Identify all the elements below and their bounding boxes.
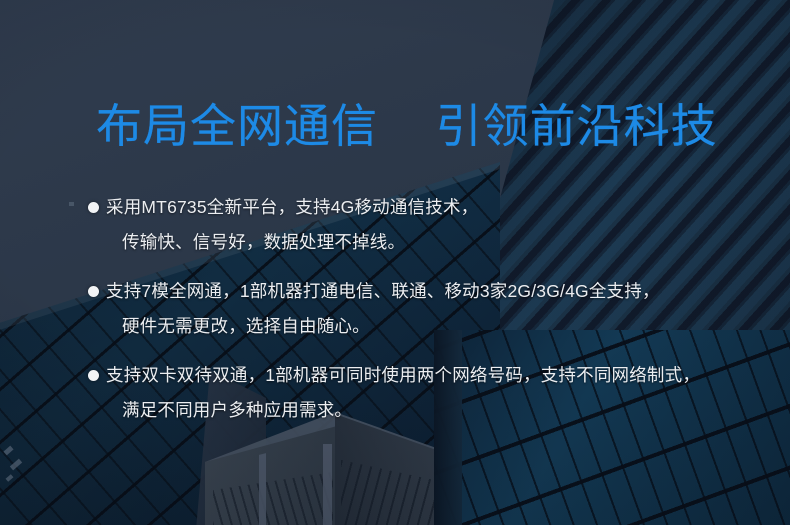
- bottom-white-strip: [0, 525, 790, 529]
- feature-1-line-2: 传输快、信号好，数据处理不掉线。: [88, 225, 748, 260]
- feature-item-2: 支持7模全网通，1部机器打通电信、联通、移动3家2G/3G/4G全支持， 硬件无…: [88, 274, 748, 344]
- feature-list: 采用MT6735全新平台，支持4G移动通信技术， 传输快、信号好，数据处理不掉线…: [88, 190, 748, 442]
- feature-3-line-1: 支持双卡双待双通，1部机器可同时使用两个网络号码，支持不同网络制式，: [88, 358, 748, 393]
- bullet-dot-icon: [88, 202, 99, 213]
- feature-item-3: 支持双卡双待双通，1部机器可同时使用两个网络号码，支持不同网络制式， 满足不同用…: [88, 358, 748, 428]
- headline-part-1: 布局全网通信: [96, 100, 378, 152]
- banner-headline: 布局全网通信 引领前沿科技: [96, 103, 718, 149]
- feature-1-line-1: 采用MT6735全新平台，支持4G移动通信技术，: [88, 190, 748, 225]
- promo-banner: 布局全网通信 引领前沿科技 采用MT6735全新平台，支持4G移动通信技术， 传…: [0, 0, 790, 529]
- feature-2-line-1: 支持7模全网通，1部机器打通电信、联通、移动3家2G/3G/4G全支持，: [88, 274, 748, 309]
- banner-content: 布局全网通信 引领前沿科技 采用MT6735全新平台，支持4G移动通信技术， 传…: [0, 0, 790, 529]
- bullet-dot-icon: [88, 370, 99, 381]
- feature-3-line-2: 满足不同用户多种应用需求。: [88, 393, 748, 428]
- feature-2-line-2: 硬件无需更改，选择自由随心。: [88, 309, 748, 344]
- headline-part-2: 引领前沿科技: [436, 100, 718, 152]
- feature-item-1: 采用MT6735全新平台，支持4G移动通信技术， 传输快、信号好，数据处理不掉线…: [88, 190, 748, 260]
- bullet-dot-icon: [88, 286, 99, 297]
